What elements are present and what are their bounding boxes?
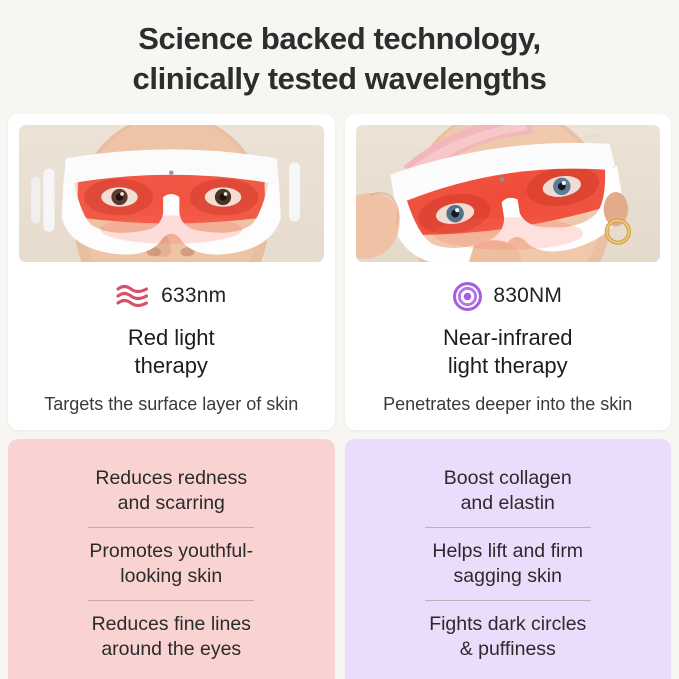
therapy-title-red-line-1: Red light bbox=[128, 324, 215, 352]
benefit-line: Helps lift and firm bbox=[357, 539, 660, 564]
card-red-light: 633nm Red light therapy Targets the surf… bbox=[8, 114, 335, 430]
benefit-line: Boost collagen bbox=[357, 466, 660, 491]
benefit-divider bbox=[425, 600, 591, 601]
therapy-description-red: Targets the surface layer of skin bbox=[44, 393, 298, 416]
promo-page: Science backed technology, clinically te… bbox=[0, 0, 679, 679]
therapy-title-infrared: Near-infrared light therapy bbox=[443, 324, 573, 379]
wavelength-row-infrared: 830NM bbox=[453, 281, 562, 311]
therapy-columns: 633nm Red light therapy Targets the surf… bbox=[8, 114, 671, 679]
benefit-line: and elastin bbox=[357, 491, 660, 516]
red-light-mask-illustration bbox=[19, 125, 324, 262]
benefit-item: Reduces fine lines around the eyes bbox=[20, 601, 323, 673]
benefit-item: Boost collagen and elastin bbox=[357, 455, 660, 527]
near-infrared-mask-illustration: shine bbox=[356, 125, 661, 262]
therapy-description-infrared: Penetrates deeper into the skin bbox=[383, 393, 632, 416]
purple-target-icon bbox=[453, 282, 482, 311]
benefit-line: Fights dark circles bbox=[357, 612, 660, 637]
product-photo-red-light bbox=[19, 125, 324, 262]
benefit-item: Helps lift and firm sagging skin bbox=[357, 528, 660, 600]
card-near-infrared: shine bbox=[345, 114, 672, 430]
benefit-line: Reduces fine lines bbox=[20, 612, 323, 637]
red-waves-icon bbox=[116, 283, 150, 309]
benefit-line: and scarring bbox=[20, 491, 323, 516]
therapy-title-red: Red light therapy bbox=[128, 324, 215, 379]
page-title: Science backed technology, clinically te… bbox=[8, 0, 671, 98]
product-photo-near-infrared: shine bbox=[356, 125, 661, 262]
column-red-light: 633nm Red light therapy Targets the surf… bbox=[8, 114, 335, 679]
benefit-item: Fights dark circles & puffiness bbox=[357, 601, 660, 673]
page-title-line-1: Science backed technology, bbox=[38, 19, 641, 59]
wavelength-row-red: 633nm bbox=[116, 281, 226, 311]
benefit-line: sagging skin bbox=[357, 564, 660, 589]
benefit-divider bbox=[88, 600, 254, 601]
benefit-divider bbox=[88, 527, 254, 528]
page-title-line-2: clinically tested wavelengths bbox=[38, 59, 641, 99]
therapy-title-red-line-2: therapy bbox=[128, 352, 215, 380]
benefit-item: Reduces redness and scarring bbox=[20, 455, 323, 527]
benefit-line: around the eyes bbox=[20, 637, 323, 662]
benefit-divider bbox=[425, 527, 591, 528]
therapy-title-infrared-line-1: Near-infrared bbox=[443, 324, 573, 352]
benefit-line: Reduces redness bbox=[20, 466, 323, 491]
benefits-panel-red: Reduces redness and scarring Promotes yo… bbox=[8, 439, 335, 679]
benefit-line: looking skin bbox=[20, 564, 323, 589]
therapy-title-infrared-line-2: light therapy bbox=[443, 352, 573, 380]
benefit-line: Promotes youthful- bbox=[20, 539, 323, 564]
column-near-infrared: shine bbox=[345, 114, 672, 679]
benefit-item: Promotes youthful- looking skin bbox=[20, 528, 323, 600]
benefits-panel-infrared: Boost collagen and elastin Helps lift an… bbox=[345, 439, 672, 679]
wavelength-value-infrared: 830NM bbox=[493, 284, 562, 308]
benefit-line: & puffiness bbox=[357, 637, 660, 662]
wavelength-value-red: 633nm bbox=[161, 284, 226, 308]
